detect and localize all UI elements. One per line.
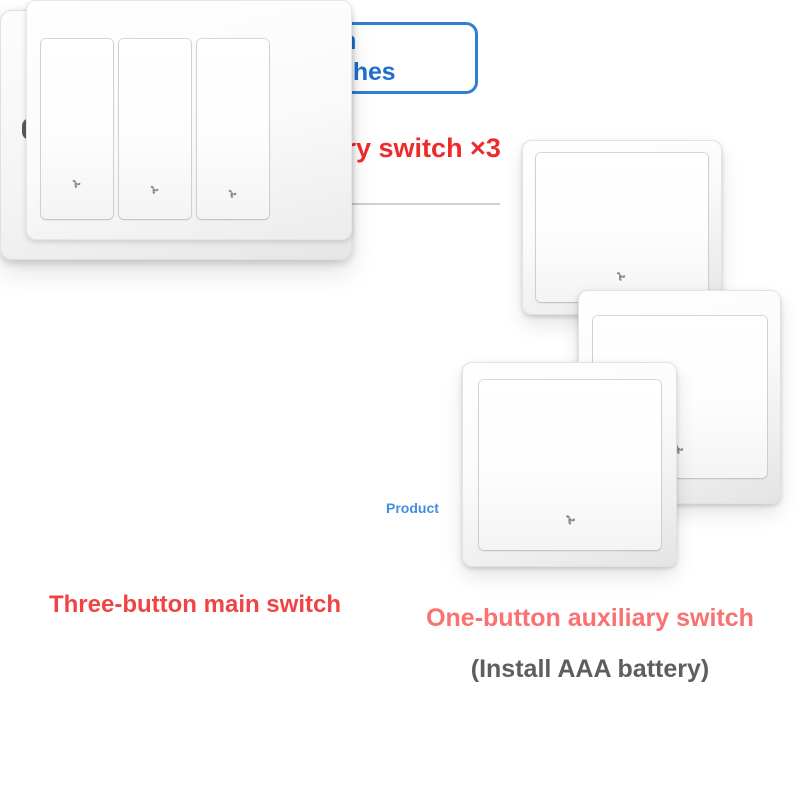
- aux-switch-3[interactable]: [462, 362, 677, 567]
- fan-indicator-icon: [225, 187, 239, 201]
- aux-switch-1[interactable]: [522, 140, 722, 315]
- aux-switch-3-rocker[interactable]: [479, 380, 661, 550]
- main-switch-rocker-3[interactable]: [197, 39, 269, 219]
- main-switch-caption: Three-button main switch: [40, 590, 350, 620]
- aux-switch-1-rocker[interactable]: [536, 153, 708, 302]
- fan-indicator-icon: [562, 512, 578, 528]
- main-switch-rocker-2[interactable]: [119, 39, 191, 219]
- fan-indicator-icon: [613, 269, 628, 284]
- main-switch[interactable]: [0, 0, 350, 258]
- main-switch-faceplate: [26, 0, 352, 240]
- fan-indicator-icon: [69, 177, 83, 191]
- product-watermark: Product: [386, 500, 439, 516]
- main-switch-rocker-1[interactable]: [41, 39, 113, 219]
- battery-note-caption: (Install AAA battery): [382, 652, 798, 686]
- fan-indicator-icon: [147, 183, 161, 197]
- aux-switch-caption: One-button auxiliary switch: [382, 602, 798, 634]
